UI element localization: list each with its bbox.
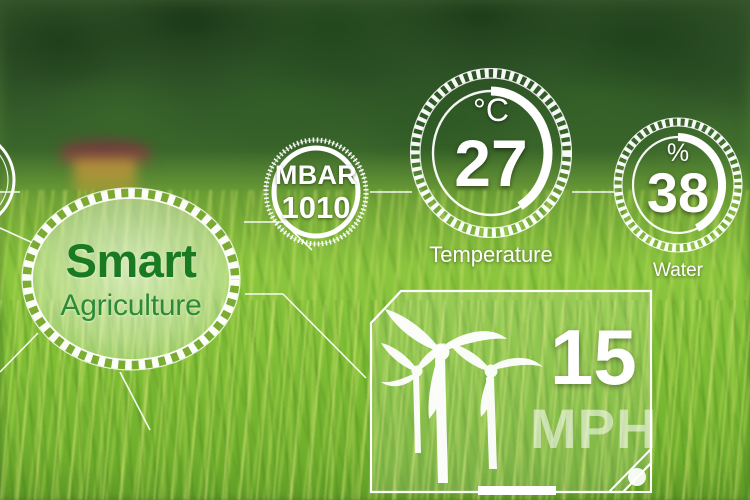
gauge-pressure[interactable]: MBAR 1010 — [262, 136, 370, 248]
gauge-temperature[interactable]: °C 27 Temperature — [410, 68, 572, 238]
gauge-temperature-caption: Temperature — [429, 242, 553, 268]
badge-title: Smart — [66, 237, 197, 284]
gauge-water-value: 38 — [647, 165, 709, 221]
gauge-temperature-unit: °C — [473, 92, 509, 129]
badge-subtitle: Agriculture — [60, 291, 201, 321]
wind-bottom-bar — [478, 486, 556, 495]
badge-text: Smart Agriculture — [17, 186, 245, 372]
gauge-pressure-unit: MBAR — [275, 162, 357, 189]
gauge-temperature-value: 27 — [454, 130, 527, 196]
gauge-pressure-value: 1010 — [282, 192, 351, 223]
smart-agriculture-hud-scene: MBAR 1010 °C 27 Temperature % 38 Water — [0, 0, 750, 500]
connector-badge-wind-b — [283, 294, 366, 378]
wind-corner-dot — [628, 468, 646, 486]
smart-agriculture-badge[interactable]: Smart Agriculture — [17, 186, 245, 372]
wind-speed-value: 15 — [550, 318, 637, 396]
gauge-water[interactable]: % 38 Water — [613, 117, 743, 253]
gauge-pressure-readout: MBAR 1010 — [262, 136, 370, 248]
gauge-water-caption: Water — [653, 260, 703, 282]
edge-gauge-partial — [0, 128, 18, 232]
connector-badge-bottom — [120, 372, 150, 430]
wind-speed-unit: MPH — [530, 401, 657, 457]
wind-panel[interactable]: 15 MPH — [365, 283, 655, 500]
